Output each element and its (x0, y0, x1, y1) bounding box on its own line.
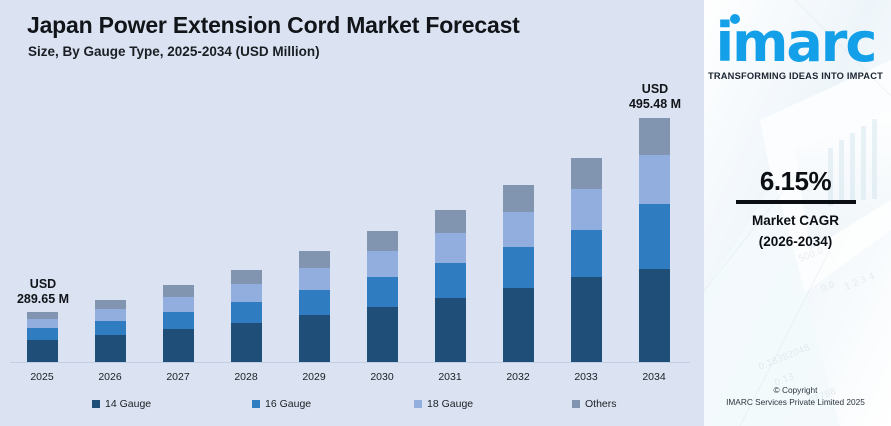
imarc-logo: imarc TRANSFORMING IDEAS INTO IMPACT (700, 16, 891, 81)
copyright-line2: IMARC Services Private Limited 2025 (700, 396, 891, 408)
bar-segment-18-gauge (367, 251, 398, 277)
bar-segment-14-gauge (571, 277, 602, 362)
x-axis-label-2031: 2031 (415, 371, 485, 383)
bar-segment-14-gauge (639, 269, 670, 362)
cagr-value: 6.15% (700, 166, 891, 197)
bar-segment-16-gauge (571, 230, 602, 277)
cagr-label-line2: (2026-2034) (700, 231, 891, 252)
legend-label: 14 Gauge (105, 398, 151, 410)
x-axis-label-2025: 2025 (7, 371, 77, 383)
bar-segment-14-gauge (435, 298, 466, 362)
legend-label: 18 Gauge (427, 398, 473, 410)
bar-segment-14-gauge (231, 323, 262, 362)
x-axis-label-2027: 2027 (143, 371, 213, 383)
bar-segment-others (231, 270, 262, 284)
bar-segment-others (163, 285, 194, 297)
bar-segment-others (503, 185, 534, 212)
x-axis-label-2033: 2033 (551, 371, 621, 383)
chart-panel: Japan Power Extension Cord Market Foreca… (0, 0, 700, 426)
legend-item-others[interactable]: Others (572, 398, 617, 410)
bar-segment-others (435, 210, 466, 233)
legend-swatch-icon (252, 400, 260, 408)
logo-dot-icon (730, 14, 740, 24)
chart-legend: 14 Gauge16 Gauge18 GaugeOthers (0, 398, 700, 418)
bar-2031 (435, 210, 466, 362)
bar-segment-18-gauge (435, 233, 466, 263)
x-axis-line (10, 362, 690, 363)
logo-wordmark: imarc (716, 16, 876, 70)
cagr-label: Market CAGR (2026-2034) (700, 210, 891, 252)
bar-segment-18-gauge (95, 309, 126, 321)
bar-segment-16-gauge (503, 247, 534, 288)
x-axis-label-2029: 2029 (279, 371, 349, 383)
bar-segment-18-gauge (27, 319, 58, 328)
x-axis-label-2034: 2034 (619, 371, 689, 383)
x-axis-label-2030: 2030 (347, 371, 417, 383)
bar-segment-18-gauge (163, 297, 194, 312)
bar-2030 (367, 231, 398, 362)
bar-2025 (27, 312, 58, 362)
callout-start-line1: USD (0, 277, 98, 292)
bar-segment-14-gauge (299, 315, 330, 362)
bar-segment-16-gauge (27, 328, 58, 340)
x-axis-label-2026: 2026 (75, 371, 145, 383)
bar-segment-16-gauge (367, 277, 398, 307)
bar-segment-others (27, 312, 58, 319)
legend-swatch-icon (414, 400, 422, 408)
bar-segment-16-gauge (639, 204, 670, 269)
x-axis-label-2032: 2032 (483, 371, 553, 383)
bar-segment-18-gauge (503, 212, 534, 247)
bar-segment-16-gauge (231, 302, 262, 323)
callout-end: USD 495.48 M (600, 82, 710, 112)
bar-2026 (95, 300, 126, 362)
bar-segment-others (571, 158, 602, 189)
bar-segment-16-gauge (299, 290, 330, 315)
legend-label: 16 Gauge (265, 398, 311, 410)
bar-2027 (163, 285, 194, 362)
copyright-notice: © Copyright IMARC Services Private Limit… (700, 384, 891, 408)
legend-swatch-icon (92, 400, 100, 408)
legend-label: Others (585, 398, 617, 410)
bar-segment-16-gauge (435, 263, 466, 298)
legend-item-16-gauge[interactable]: 16 Gauge (252, 398, 311, 410)
callout-start-line2: 289.65 M (0, 292, 98, 307)
bar-chart-plot: 2025202620272028202920302031203220332034… (0, 0, 700, 426)
cagr-divider (736, 200, 856, 204)
bar-segment-18-gauge (299, 268, 330, 290)
bar-2029 (299, 251, 330, 362)
brand-panel: 500.0 0.0 1 2 3 4 0.18382048 02788 0.13 … (700, 0, 891, 426)
bar-segment-others (639, 118, 670, 155)
infographic-root: Japan Power Extension Cord Market Foreca… (0, 0, 891, 426)
callout-end-line1: USD (600, 82, 710, 97)
bar-segment-18-gauge (231, 284, 262, 302)
callout-end-line2: 495.48 M (600, 97, 710, 112)
bar-segment-others (367, 231, 398, 251)
bar-segment-14-gauge (163, 329, 194, 362)
bar-segment-16-gauge (95, 321, 126, 335)
callout-start: USD 289.65 M (0, 277, 98, 307)
cagr-label-line1: Market CAGR (700, 210, 891, 231)
bar-segment-others (299, 251, 330, 268)
bar-segment-others (95, 300, 126, 309)
bar-segment-14-gauge (27, 340, 58, 362)
legend-swatch-icon (572, 400, 580, 408)
bar-2032 (503, 185, 534, 362)
copyright-line1: © Copyright (700, 384, 891, 396)
bar-segment-14-gauge (503, 288, 534, 362)
bar-segment-14-gauge (367, 307, 398, 362)
bar-segment-16-gauge (163, 312, 194, 329)
bar-segment-14-gauge (95, 335, 126, 362)
legend-item-14-gauge[interactable]: 14 Gauge (92, 398, 151, 410)
bar-2033 (571, 158, 602, 362)
bar-2028 (231, 270, 262, 362)
x-axis-label-2028: 2028 (211, 371, 281, 383)
bar-segment-18-gauge (571, 189, 602, 230)
bar-2034 (639, 118, 670, 362)
bar-segment-18-gauge (639, 155, 670, 204)
legend-item-18-gauge[interactable]: 18 Gauge (414, 398, 473, 410)
